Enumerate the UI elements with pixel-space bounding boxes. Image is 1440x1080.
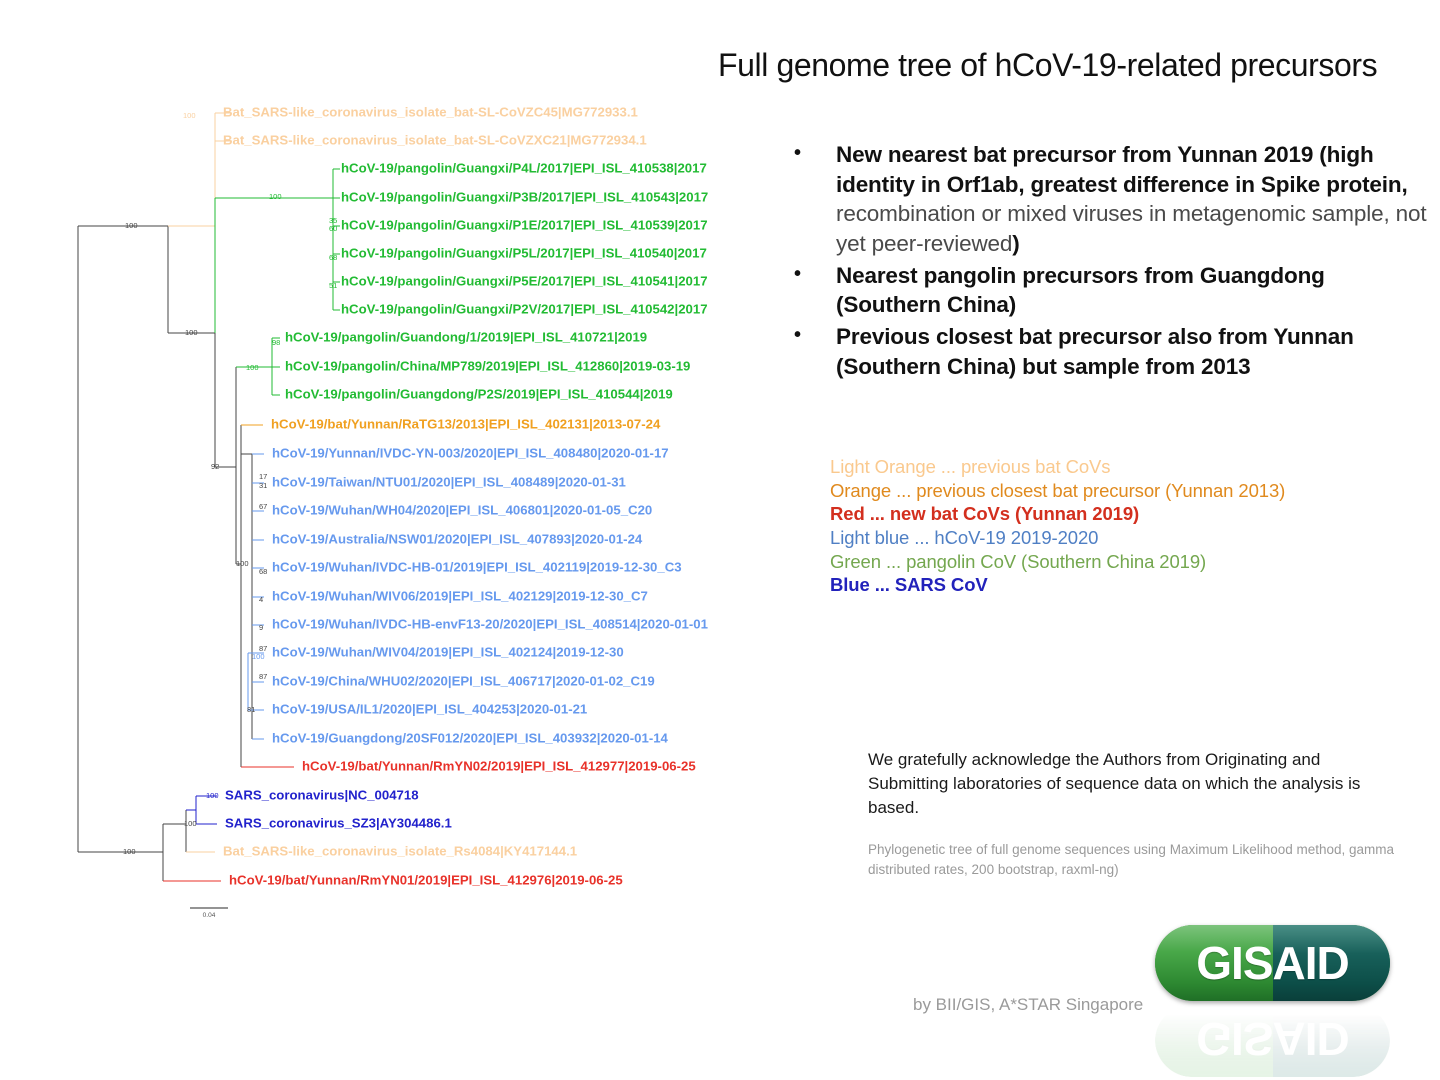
- tree-tip-label: Bat_SARS-like_coronavirus_isolate_bat-SL…: [223, 132, 647, 147]
- legend-row: Red ... new bat CoVs (Yunnan 2019): [830, 502, 1430, 526]
- tree-bootstrap-value: 68: [329, 253, 337, 262]
- tree-bootstrap-value: 100: [123, 847, 136, 856]
- tree-bootstrap-value: 100: [246, 363, 259, 372]
- bullet-dot-icon: •: [794, 261, 801, 287]
- scale-bar-label: 0.04: [203, 912, 216, 919]
- tree-tip-label: hCoV-19/Australia/NSW01/2020|EPI_ISL_407…: [272, 531, 643, 546]
- legend-row: Light blue ... hCoV-19 2019-2020: [830, 526, 1430, 550]
- bullet-text-strong: New nearest bat precursor from Yunnan 20…: [836, 142, 1408, 197]
- tree-tip-label: hCoV-19/Yunnan/IVDC-YN-003/2020|EPI_ISL_…: [272, 445, 669, 460]
- tree-tip-label: hCoV-19/Wuhan/IVDC-HB-envF13-20/2020|EPI…: [272, 616, 708, 631]
- tree-tip-label: hCoV-19/bat/Yunnan/RmYN02/2019|EPI_ISL_4…: [302, 758, 696, 773]
- bullet-dot-icon: •: [794, 140, 801, 166]
- page-title: Full genome tree of hCoV-19-related prec…: [718, 48, 1424, 84]
- bullet-list: •New nearest bat precursor from Yunnan 2…: [788, 140, 1428, 384]
- tree-bootstrap-value: 100: [252, 652, 265, 661]
- tree-tip-label: hCoV-19/pangolin/Guandong/1/2019|EPI_ISL…: [285, 329, 647, 344]
- tree-bootstrap-value: 100: [183, 111, 196, 120]
- tree-tip-label: SARS_coronavirus_SZ3|AY304486.1: [225, 815, 452, 830]
- tree-bootstrap-value: 87: [259, 672, 267, 681]
- gisaid-logo-text-mirror: GISAID: [1155, 1005, 1390, 1077]
- tree-tip-label: hCoV-19/pangolin/China/MP789/2019|EPI_IS…: [285, 358, 690, 373]
- gisaid-logo-reflection: GISAID: [1155, 1005, 1390, 1077]
- acknowledgement-text: We gratefully acknowledge the Authors fr…: [868, 748, 1388, 820]
- tree-tip-label: hCoV-19/pangolin/Guangxi/P5L/2017|EPI_IS…: [341, 245, 707, 260]
- legend-row: Light Orange ... previous bat CoVs: [830, 455, 1430, 479]
- tree-tip-label: hCoV-19/Guangdong/20SF012/2020|EPI_ISL_4…: [272, 730, 669, 745]
- tree-bootstrap-value: 31: [259, 481, 267, 490]
- legend-row: Blue ... SARS CoV: [830, 573, 1430, 597]
- tree-tip-label: hCoV-19/Wuhan/WIV04/2019|EPI_ISL_402124|…: [272, 644, 624, 659]
- gisaid-logo-text: GISAID: [1155, 925, 1390, 1001]
- tree-tip-label: hCoV-19/Taiwan/NTU01/2020|EPI_ISL_408489…: [272, 474, 626, 489]
- tree-bootstrap-value: 67: [259, 502, 267, 511]
- content-panel: Full genome tree of hCoV-19-related prec…: [700, 0, 1440, 1080]
- tree-bootstrap-value: 100: [206, 791, 219, 800]
- color-legend: Light Orange ... previous bat CoVsOrange…: [830, 455, 1430, 597]
- tree-tip-label: hCoV-19/pangolin/Guangxi/P4L/2017|EPI_IS…: [341, 160, 707, 175]
- tree-bootstrap-value: 100: [236, 559, 249, 568]
- tree-branches: [78, 113, 340, 881]
- bullet-text-soft: recombination or mixed viruses in metage…: [836, 201, 1426, 256]
- tree-tip-label: hCoV-19/bat/Yunnan/RmYN01/2019|EPI_ISL_4…: [229, 872, 623, 887]
- bullet-item: •Previous closest bat precursor also fro…: [788, 322, 1428, 381]
- bullet-item: •New nearest bat precursor from Yunnan 2…: [788, 140, 1428, 259]
- tree-tip-label: hCoV-19/Wuhan/IVDC-HB-01/2019|EPI_ISL_40…: [272, 559, 682, 574]
- phylogenetic-tree-svg: 1001009210010010010010035606851981001731…: [0, 0, 760, 1080]
- tree-bootstrap-value: 68: [259, 567, 267, 576]
- tree-tip-label: hCoV-19/pangolin/Guangxi/P1E/2017|EPI_IS…: [341, 217, 708, 232]
- tree-scale-bar: 0.04: [190, 908, 228, 919]
- tree-tip-label: hCoV-19/Wuhan/WH04/2020|EPI_ISL_406801|2…: [272, 502, 652, 517]
- legend-row: Orange ... previous closest bat precurso…: [830, 479, 1430, 503]
- byline: by BII/GIS, A*STAR Singapore: [913, 995, 1143, 1015]
- tree-tip-label: hCoV-19/pangolin/Guangxi/P3B/2017|EPI_IS…: [341, 189, 708, 204]
- tree-tip-label: hCoV-19/China/WHU02/2020|EPI_ISL_406717|…: [272, 673, 655, 688]
- tree-tip-label: hCoV-19/USA/IL1/2020|EPI_ISL_404253|2020…: [272, 701, 587, 716]
- tree-tip-label: hCoV-19/pangolin/Guangxi/P5E/2017|EPI_IS…: [341, 273, 708, 288]
- tree-bootstrap-value: 100: [269, 192, 282, 201]
- tree-bootstrap-value: 81: [247, 705, 255, 714]
- tree-bootstrap-value: 92: [211, 462, 219, 471]
- gisaid-logo-pill: GISAID: [1155, 925, 1390, 1001]
- tree-bootstrap-value: 4: [259, 595, 263, 604]
- tree-bootstrap-value: 98: [272, 338, 280, 347]
- gisaid-logo: GISAID GISAID: [1155, 925, 1415, 1075]
- bullet-text-tail: ): [1012, 231, 1019, 256]
- legend-row: Green ... pangolin CoV (Southern China 2…: [830, 550, 1430, 574]
- tree-tip-label: Bat_SARS-like_coronavirus_isolate_bat-SL…: [223, 104, 638, 119]
- tree-bootstrap-value: 100: [125, 221, 138, 230]
- tree-tip-label: Bat_SARS-like_coronavirus_isolate_Rs4084…: [223, 843, 577, 858]
- tree-tip-labels: Bat_SARS-like_coronavirus_isolate_bat-SL…: [223, 104, 708, 887]
- bullet-text-strong: Previous closest bat precursor also from…: [836, 324, 1354, 379]
- tree-bootstrap-value: 51: [329, 281, 337, 290]
- tree-bootstrap-value: 100: [185, 328, 198, 337]
- gisaid-logo-pill-mirror: GISAID: [1155, 1005, 1390, 1077]
- tree-tip-label: hCoV-19/pangolin/Guangdong/P2S/2019|EPI_…: [285, 386, 673, 401]
- bullet-text-strong: Nearest pangolin precursors from Guangdo…: [836, 263, 1325, 318]
- bullet-item: •Nearest pangolin precursors from Guangd…: [788, 261, 1428, 320]
- tree-bootstrap-value: 60: [329, 224, 337, 233]
- tree-bootstrap-value: 100: [184, 819, 197, 828]
- tree-tip-label: hCoV-19/bat/Yunnan/RaTG13/2013|EPI_ISL_4…: [271, 416, 661, 431]
- tree-tip-label: hCoV-19/Wuhan/WIV06/2019|EPI_ISL_402129|…: [272, 588, 648, 603]
- tree-bootstrap-value: 9: [259, 623, 263, 632]
- method-note: Phylogenetic tree of full genome sequenc…: [868, 840, 1428, 879]
- tree-bootstrap-value: 17: [259, 472, 267, 481]
- phylogenetic-tree-panel: 1001009210010010010010035606851981001731…: [0, 0, 760, 1080]
- tree-tip-label: SARS_coronavirus|NC_004718: [225, 787, 419, 802]
- bullet-dot-icon: •: [794, 322, 801, 348]
- slide: 1001009210010010010010035606851981001731…: [0, 0, 1440, 1080]
- tree-tip-label: hCoV-19/pangolin/Guangxi/P2V/2017|EPI_IS…: [341, 301, 708, 316]
